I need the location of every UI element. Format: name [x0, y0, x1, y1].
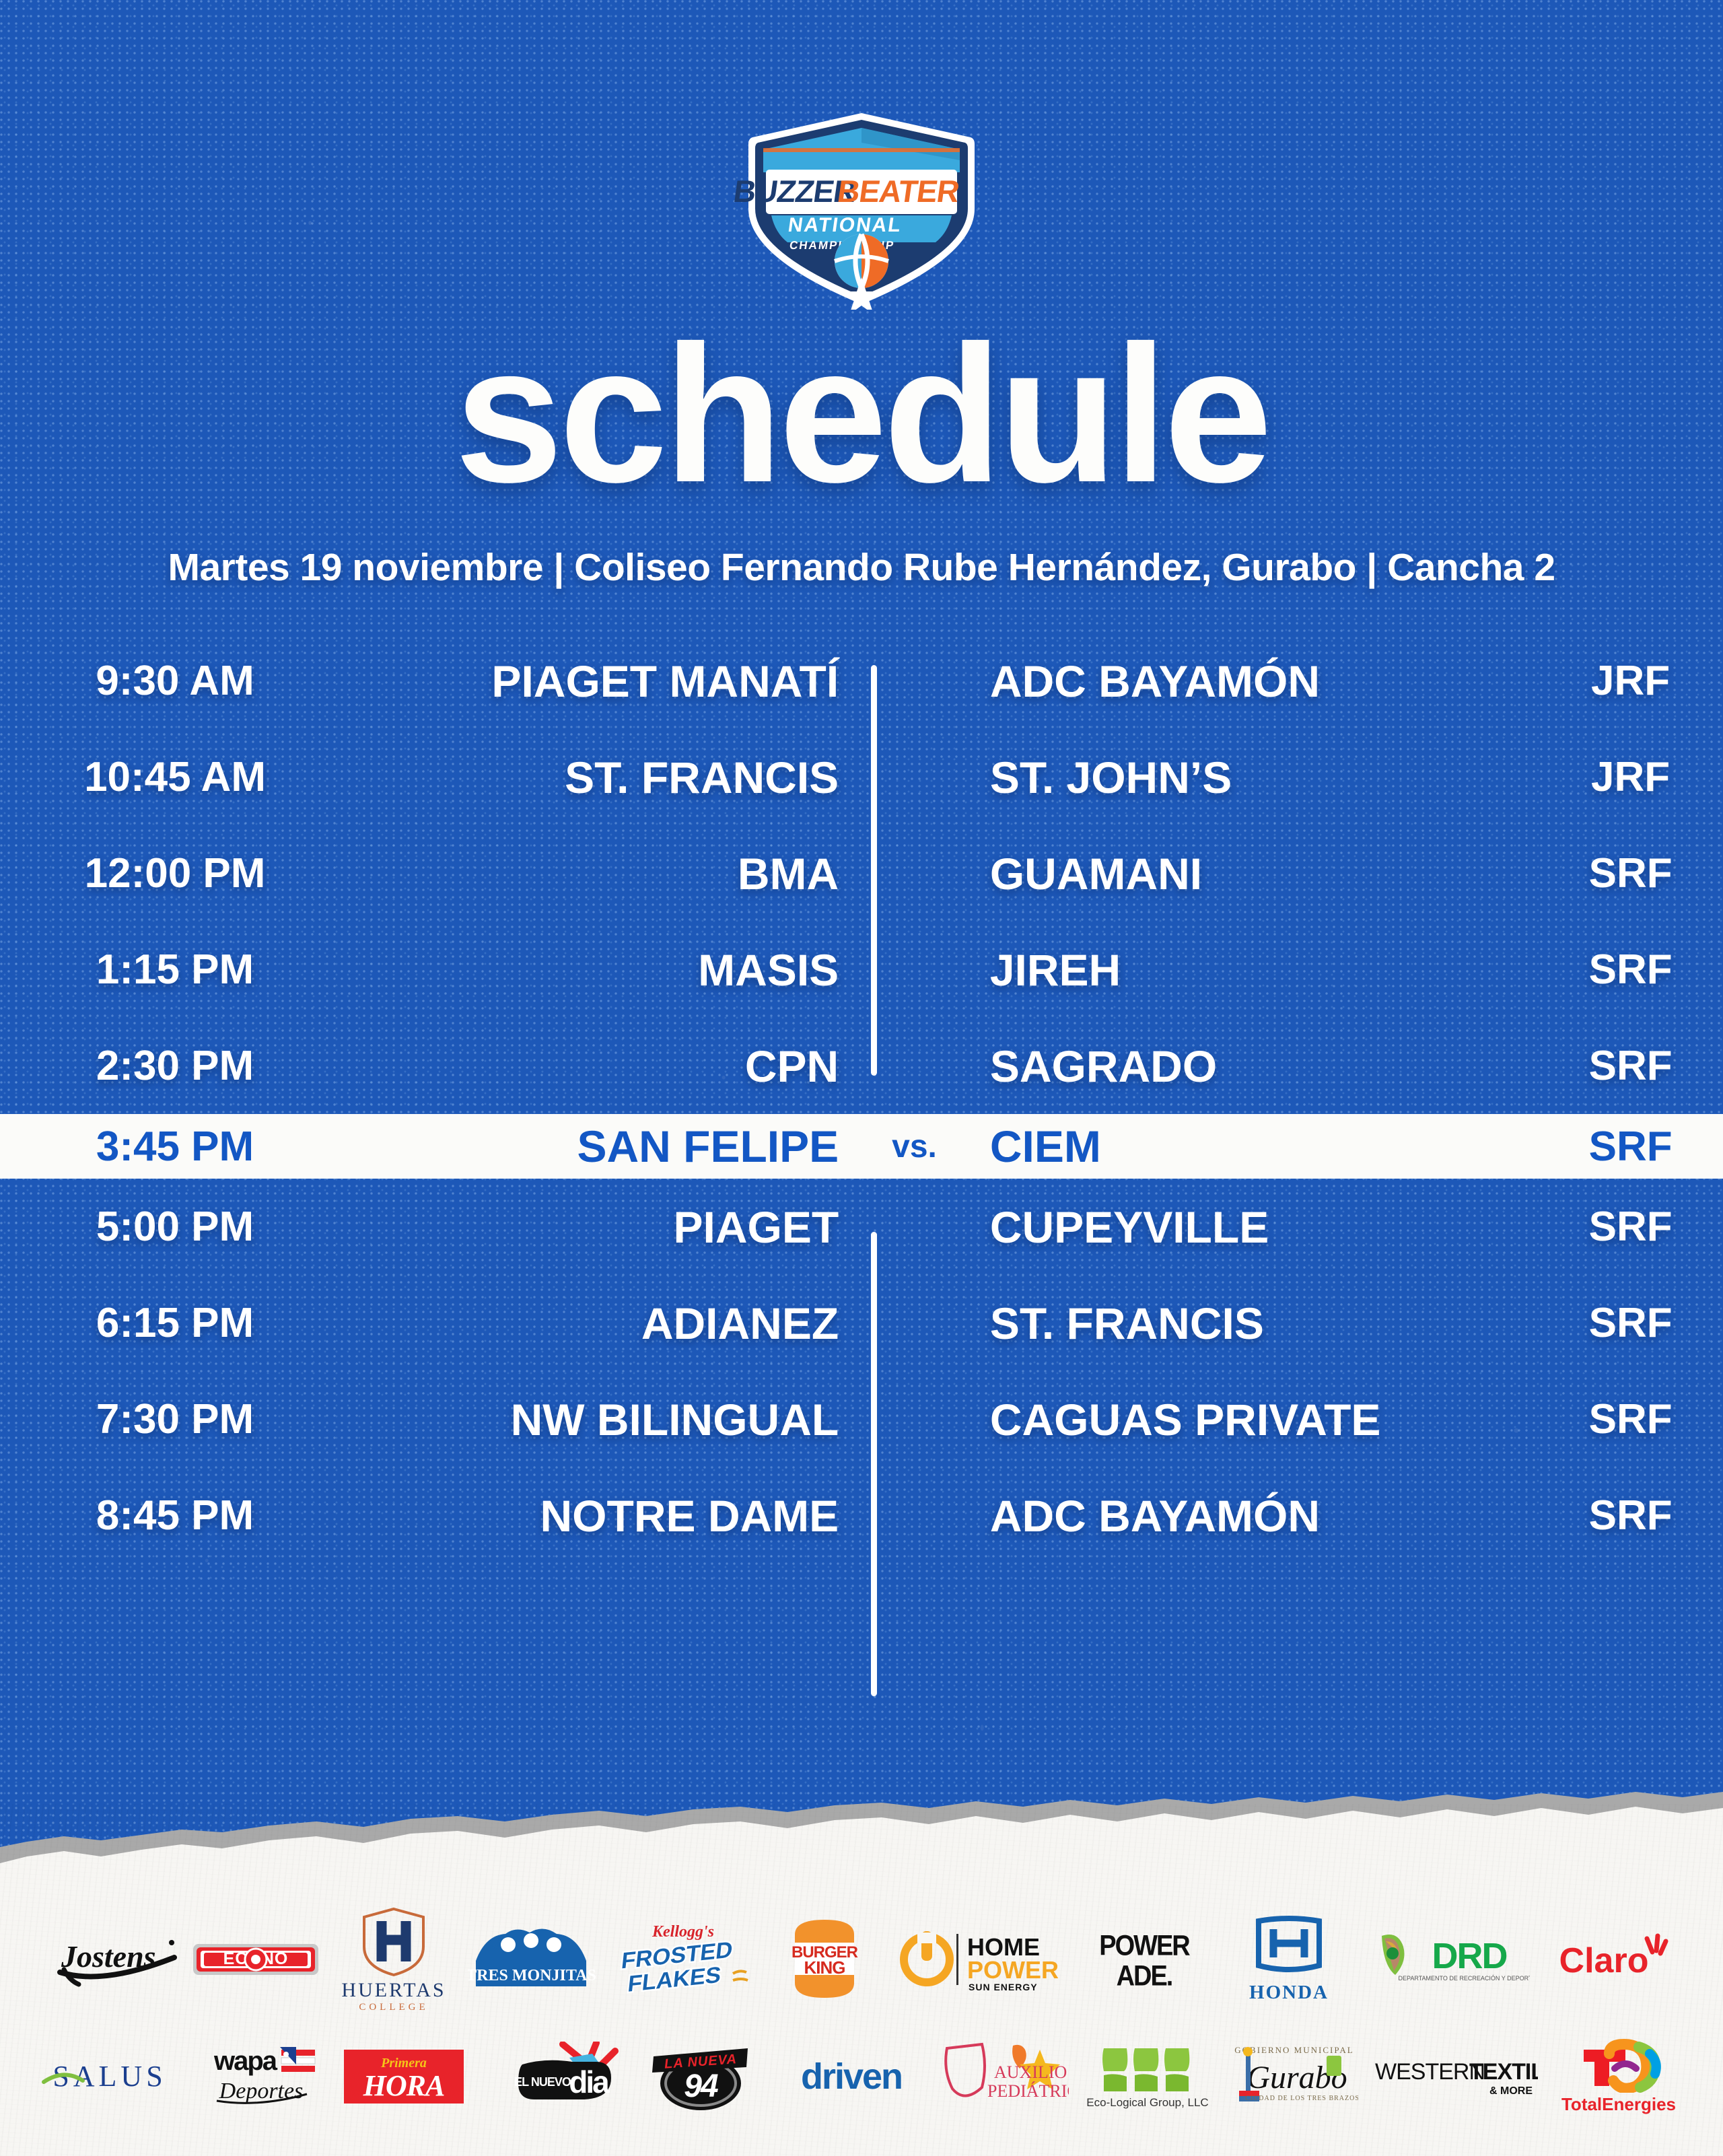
- svg-text:BEATER: BEATER: [835, 174, 962, 209]
- game-time: 10:45 AM: [0, 753, 350, 801]
- division-code: SRF: [1538, 1299, 1723, 1347]
- schedule-row: 10:45 AM ST. FRANCIS vs. ST. JOHN’S JRF: [0, 729, 1723, 825]
- sponsor-el-nuevo-dia: EL NUEVO dia: [477, 2042, 628, 2112]
- sponsor-row-1: Jostens ECONO HUERTAS CO: [0, 1902, 1723, 2016]
- sponsor-drd: DRD DEPARTAMENTO DE RECREACIÓN Y DEPORTE…: [1362, 1926, 1537, 1991]
- sponsor-huertas-label: HUERTAS: [341, 1979, 446, 2002]
- sponsor-frosted-flakes: Kellogg's FROSTED FLAKES: [608, 1923, 759, 1995]
- svg-text:ADE.: ADE.: [1117, 1959, 1172, 1991]
- sponsor-jostens: Jostens: [42, 1928, 187, 1990]
- sponsor-tres-monjitas: TRES MONJITAS: [463, 1922, 608, 1996]
- sponsor-huertas-sub: COLLEGE: [359, 2002, 428, 2013]
- sponsor-gurabo: GOBIERNO MUNICIPAL Gurabo CIUDAD DE LOS …: [1220, 2041, 1365, 2112]
- sponsor-claro: Claro: [1537, 1928, 1681, 1990]
- schedule-poster: BUZZER BEATER NATIONAL CHAMPIONSHIP sche…: [0, 0, 1723, 2156]
- division-code: JRF: [1538, 657, 1723, 705]
- away-team: SAGRADO: [974, 1041, 1538, 1092]
- division-code: SRF: [1538, 1203, 1723, 1251]
- sponsor-honda: HONDA: [1217, 1914, 1362, 2004]
- schedule-row: 6:15 PM ADIANEZ vs. ST. FRANCIS SRF: [0, 1275, 1723, 1371]
- sponsor-eco-logical: Eco-Logical Group, LLC: [1076, 2044, 1220, 2110]
- away-team: GUAMANI: [974, 848, 1538, 899]
- game-time: 3:45 PM: [0, 1123, 350, 1171]
- sponsor-econo: ECONO: [187, 1935, 325, 1983]
- sponsor-western-textiles: WESTERN TEXTILES & MORE: [1365, 2048, 1543, 2105]
- svg-text:Deportes: Deportes: [218, 2079, 303, 2103]
- home-team: ADIANEZ: [350, 1298, 855, 1349]
- svg-text:POWER: POWER: [1099, 1929, 1190, 1962]
- schedule-row: 5:00 PM PIAGET vs. CUPEYVILLE SRF: [0, 1179, 1723, 1275]
- svg-text:SUN ENERGY: SUN ENERGY: [969, 1982, 1038, 1992]
- schedule-row: 2:30 PM CPN vs. SAGRADO SRF: [0, 1018, 1723, 1114]
- svg-text:driven: driven: [801, 2056, 902, 2097]
- sponsor-totalenergies-label: TotalEnergies: [1561, 2094, 1676, 2115]
- buzzer-beater-crest-logo: BUZZER BEATER NATIONAL CHAMPIONSHIP: [734, 108, 989, 310]
- sponsor-primera-hora: Primera HORA: [332, 2044, 477, 2109]
- svg-text:Primera: Primera: [380, 2056, 427, 2071]
- svg-text:EL NUEVO: EL NUEVO: [514, 2075, 571, 2089]
- svg-text:TRES MONJITAS: TRES MONJITAS: [468, 1967, 596, 1984]
- sponsor-row-2: SALUS wapa Deportes Primera HORA: [0, 2019, 1723, 2134]
- svg-text:94: 94: [684, 2068, 718, 2104]
- home-team: NW BILINGUAL: [350, 1394, 855, 1445]
- home-team: PIAGET: [350, 1202, 855, 1253]
- division-code: SRF: [1538, 1123, 1723, 1171]
- away-team: ADC BAYAMÓN: [974, 656, 1538, 707]
- schedule-row: 1:15 PM MASIS vs. JIREH SRF: [0, 921, 1723, 1018]
- vs-label: vs.: [855, 1128, 974, 1165]
- svg-text:KING: KING: [804, 1957, 845, 1978]
- game-time: 6:15 PM: [0, 1299, 350, 1347]
- home-team: ST. FRANCIS: [350, 752, 855, 803]
- sponsor-honda-label: HONDA: [1249, 1982, 1329, 2004]
- game-time: 5:00 PM: [0, 1203, 350, 1251]
- svg-text:wapa: wapa: [213, 2046, 277, 2076]
- svg-text:POWER: POWER: [967, 1956, 1059, 1984]
- division-code: SRF: [1538, 1395, 1723, 1443]
- schedule-row: 9:30 AM PIAGET MANATÍ vs. ADC BAYAMÓN JR…: [0, 633, 1723, 729]
- sponsor-burger-king: BURGER KING: [759, 1916, 890, 2002]
- away-team: ST. FRANCIS: [974, 1298, 1538, 1349]
- svg-text:GOBIERNO MUNICIPAL: GOBIERNO MUNICIPAL: [1234, 2045, 1353, 2055]
- away-team: ADC BAYAMÓN: [974, 1490, 1538, 1541]
- division-code: SRF: [1538, 946, 1723, 994]
- schedule-row: 7:30 PM NW BILINGUAL vs. CAGUAS PRIVATE …: [0, 1371, 1723, 1467]
- schedule-row-highlighted: 3:45 PM SAN FELIPE vs. CIEM SRF: [0, 1114, 1723, 1179]
- away-team: ST. JOHN’S: [974, 752, 1538, 803]
- game-time: 2:30 PM: [0, 1042, 350, 1090]
- svg-text:CIUDAD DE LOS TRES BRAZOS: CIUDAD DE LOS TRES BRAZOS: [1245, 2095, 1358, 2102]
- sponsor-huertas: HUERTAS COLLEGE: [325, 1905, 463, 2013]
- schedule-list: 9:30 AM PIAGET MANATÍ vs. ADC BAYAMÓN JR…: [0, 633, 1723, 1564]
- home-team: MASIS: [350, 944, 855, 996]
- away-team: CAGUAS PRIVATE: [974, 1394, 1538, 1445]
- sponsor-driven: driven: [773, 2052, 931, 2101]
- svg-text:TEXTILES: TEXTILES: [1469, 2059, 1538, 2085]
- home-team: SAN FELIPE: [350, 1121, 855, 1172]
- away-team: CIEM: [974, 1121, 1538, 1172]
- sponsor-powerade: POWER ADE.: [1072, 1926, 1217, 1991]
- division-code: SRF: [1538, 1042, 1723, 1090]
- sponsor-totalenergies: TotalEnergies: [1543, 2039, 1695, 2115]
- schedule-row: 8:45 PM NOTRE DAME vs. ADC BAYAMÓN SRF: [0, 1467, 1723, 1564]
- svg-text:PEDIÁTRICO: PEDIÁTRICO: [987, 2081, 1069, 2101]
- away-team: CUPEYVILLE: [974, 1202, 1538, 1253]
- svg-text:DRD: DRD: [1432, 1936, 1506, 1976]
- svg-text:& MORE: & MORE: [1489, 2085, 1533, 2097]
- home-team: NOTRE DAME: [350, 1490, 855, 1541]
- schedule-row: 12:00 PM BMA vs. GUAMANI SRF: [0, 825, 1723, 921]
- division-code: JRF: [1538, 753, 1723, 801]
- home-team: BMA: [350, 848, 855, 899]
- svg-text:DEPARTAMENTO DE RECREACIÓN Y D: DEPARTAMENTO DE RECREACIÓN Y DEPORTES: [1398, 1975, 1529, 1982]
- page-title: schedule: [0, 316, 1723, 512]
- sponsor-auxilio-pediatrico: AUXILIO PEDIÁTRICO: [931, 2042, 1076, 2112]
- division-code: SRF: [1538, 849, 1723, 897]
- svg-text:HORA: HORA: [363, 2069, 445, 2102]
- game-time: 9:30 AM: [0, 657, 350, 705]
- sponsor-eco-logical-label: Eco-Logical Group, LLC: [1086, 2096, 1208, 2110]
- svg-text:NATIONAL: NATIONAL: [787, 214, 903, 236]
- away-team: JIREH: [974, 944, 1538, 996]
- game-time: 7:30 PM: [0, 1395, 350, 1443]
- sponsor-salus: SALUS: [29, 2051, 187, 2102]
- sponsor-home-power: HOME POWER SUN ENERGY: [890, 1922, 1072, 1996]
- svg-text:dia: dia: [569, 2064, 610, 2099]
- game-time: 12:00 PM: [0, 849, 350, 897]
- division-code: SRF: [1538, 1492, 1723, 1539]
- event-subtitle: Martes 19 noviembre | Coliseo Fernando R…: [0, 545, 1723, 590]
- svg-text:Claro: Claro: [1559, 1941, 1649, 1980]
- svg-text:AUXILIO: AUXILIO: [994, 2062, 1067, 2082]
- home-team: PIAGET MANATÍ: [350, 656, 855, 707]
- game-time: 1:15 PM: [0, 946, 350, 994]
- svg-text:WESTERN: WESTERN: [1375, 2059, 1485, 2085]
- sponsor-wapa-deportes: wapa Deportes: [187, 2043, 332, 2110]
- sponsor-la-nueva-94: 94 LA NUEVA: [628, 2042, 773, 2112]
- game-time: 8:45 PM: [0, 1492, 350, 1539]
- home-team: CPN: [350, 1041, 855, 1092]
